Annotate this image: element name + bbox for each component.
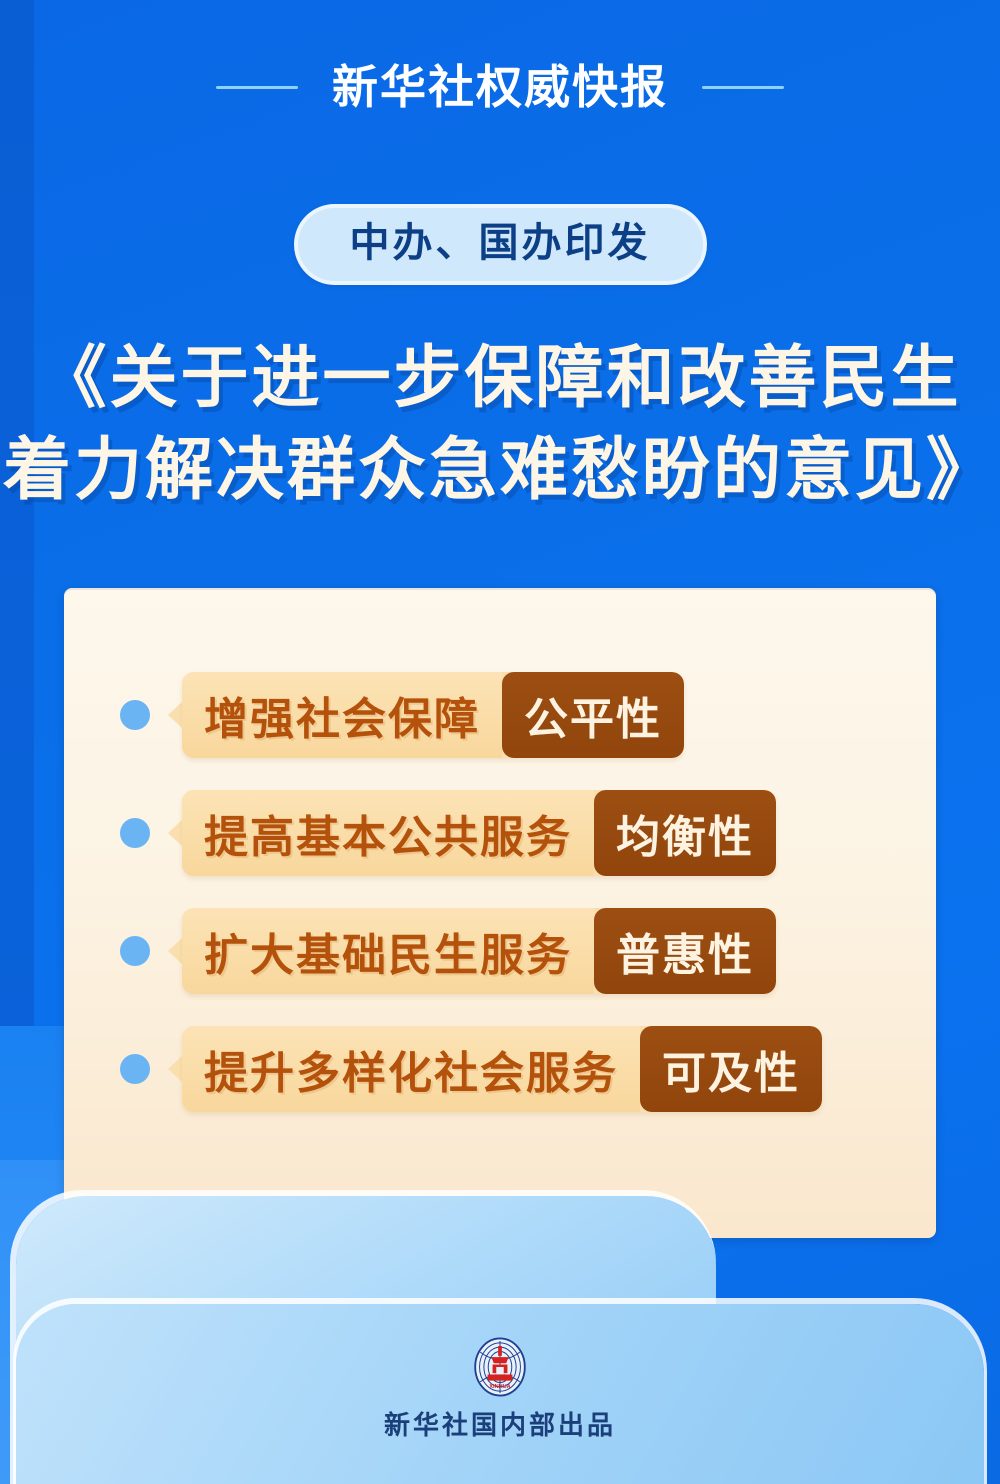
bullet-dot-icon bbox=[120, 1054, 150, 1084]
point-pill: 提升多样化社会服务 可及性 bbox=[182, 1026, 822, 1112]
header-rule-right-icon bbox=[702, 86, 784, 89]
point-tag: 普惠性 bbox=[594, 908, 776, 994]
header-rule-left-icon bbox=[216, 86, 298, 89]
footer: XINHUA 新华社国内部出品 bbox=[0, 1336, 1000, 1438]
logo-wordmark: XINHUA bbox=[489, 1384, 510, 1390]
header: 新华社权威快报 bbox=[0, 64, 1000, 110]
list-item: 提升多样化社会服务 可及性 bbox=[64, 1026, 936, 1112]
point-tag: 均衡性 bbox=[594, 790, 776, 876]
point-label: 提升多样化社会服务 bbox=[182, 1026, 640, 1112]
list-item: 增强社会保障 公平性 bbox=[64, 672, 936, 758]
point-pill: 提高基本公共服务 均衡性 bbox=[182, 790, 776, 876]
bullet-dot-icon bbox=[120, 818, 150, 848]
content-card: 增强社会保障 公平性 提高基本公共服务 均衡性 扩大基础民生服务 普惠性 bbox=[64, 588, 936, 1238]
main-title: 《关于进一步保障和改善民生 着力解决群众急难愁盼的意见》 bbox=[0, 332, 1000, 517]
issuer-badge: 中办、国办印发 bbox=[294, 204, 707, 285]
badge-container: 中办、国办印发 bbox=[0, 204, 1000, 285]
point-label: 提高基本公共服务 bbox=[182, 790, 594, 876]
pill-notch-icon bbox=[168, 820, 182, 846]
list-item: 扩大基础民生服务 普惠性 bbox=[64, 908, 936, 994]
footer-credit: 新华社国内部出品 bbox=[0, 1412, 1000, 1438]
point-tag: 可及性 bbox=[640, 1026, 822, 1112]
pill-notch-icon bbox=[168, 702, 182, 728]
point-pill: 增强社会保障 公平性 bbox=[182, 672, 684, 758]
poster-root: 新华社权威快报 中办、国办印发 《关于进一步保障和改善民生 着力解决群众急难愁盼… bbox=[0, 0, 1000, 1484]
xinhua-logo-icon: XINHUA bbox=[469, 1336, 531, 1398]
point-tag: 公平性 bbox=[502, 672, 684, 758]
points-list: 增强社会保障 公平性 提高基本公共服务 均衡性 扩大基础民生服务 普惠性 bbox=[64, 672, 936, 1144]
point-pill: 扩大基础民生服务 普惠性 bbox=[182, 908, 776, 994]
list-item: 提高基本公共服务 均衡性 bbox=[64, 790, 936, 876]
bullet-dot-icon bbox=[120, 700, 150, 730]
main-title-line-1: 《关于进一步保障和改善民生 bbox=[0, 332, 1000, 424]
point-label: 增强社会保障 bbox=[182, 672, 502, 758]
bullet-dot-icon bbox=[120, 936, 150, 966]
header-title: 新华社权威快报 bbox=[332, 64, 668, 110]
point-label: 扩大基础民生服务 bbox=[182, 908, 594, 994]
main-title-line-2: 着力解决群众急难愁盼的意见》 bbox=[0, 424, 1000, 516]
pill-notch-icon bbox=[168, 1056, 182, 1082]
pill-notch-icon bbox=[168, 938, 182, 964]
